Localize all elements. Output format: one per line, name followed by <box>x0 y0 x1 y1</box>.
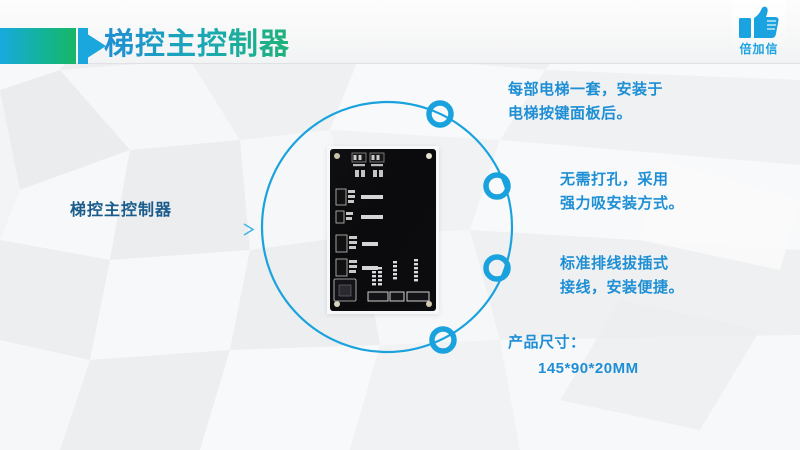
bullet-standard-cable: 标准排线拔插式 接线，安装便捷。 <box>560 252 684 300</box>
controller-board-image <box>330 149 436 311</box>
product-photo <box>327 146 439 314</box>
thumbs-up-icon <box>738 6 780 40</box>
banner-gradient-bar <box>0 28 76 64</box>
product-dimensions: 产品尺寸： 145*90*20MM <box>508 330 639 382</box>
dimensions-label: 产品尺寸： <box>508 334 586 351</box>
page-title: 梯控主控制器 <box>104 25 290 65</box>
banner-arrow-icon <box>78 28 106 64</box>
brand-logo: 倍加信 <box>726 2 792 58</box>
bullet-one-set-per-elevator: 每部电梯一套，安装于 电梯按键面板后。 <box>508 78 663 126</box>
slide-canvas: 梯控主控制器 倍加信 梯控主控制器 <box>0 0 800 450</box>
left-caption-label: 梯控主控制器 <box>70 196 172 220</box>
pointer-arrow-line <box>0 218 265 242</box>
title-banner-shape <box>0 28 108 64</box>
bullet-no-drilling: 无需打孔，采用 强力吸安装方式。 <box>560 168 684 216</box>
dimensions-value: 145*90*20MM <box>508 356 639 382</box>
logo-text: 倍加信 <box>726 42 792 56</box>
circle-node-markers <box>429 103 508 351</box>
